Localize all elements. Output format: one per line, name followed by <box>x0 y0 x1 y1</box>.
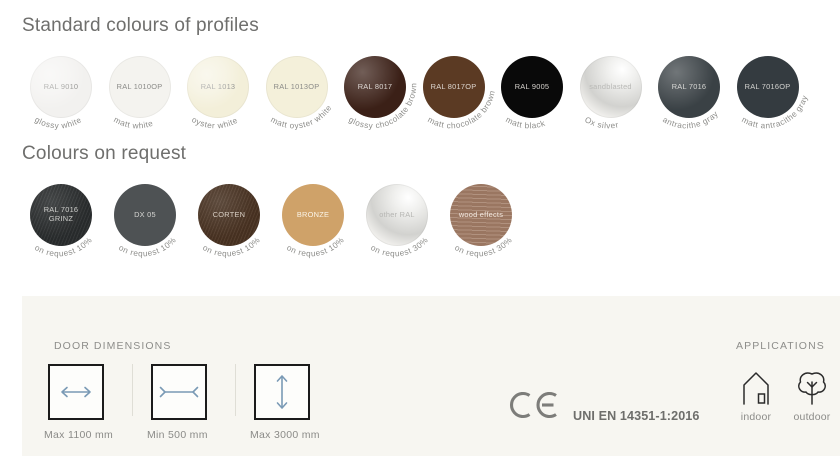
dimension-box-max-height <box>254 364 310 420</box>
colour-swatch: BRONZEon request 10% <box>282 184 344 246</box>
dimension-item-max-width: Max 1100 mm <box>44 364 118 441</box>
colour-swatch: RAL 8017OPmatt chocolate brown <box>423 56 485 118</box>
dimension-item-max-height: Max 3000 mm <box>250 364 324 441</box>
colour-swatch-code: RAL 1013 <box>198 83 239 92</box>
colour-swatch-code: RAL 9005 <box>512 83 553 92</box>
svg-text:matt white: matt white <box>112 115 154 130</box>
ce-mark-icon <box>508 390 564 420</box>
house-icon <box>728 362 784 406</box>
door-dimensions-group: Max 1100 mm Min 500 mm <box>44 364 324 441</box>
colour-swatch-code: RAL 7016 GRINZ <box>41 206 82 223</box>
colour-swatch: other RALon request 30% <box>366 184 428 246</box>
colour-swatch: RAL 9010glossy white <box>30 56 92 118</box>
colour-swatch: wood effectson request 30% <box>450 184 512 246</box>
colour-swatch: CORTENon request 10% <box>198 184 260 246</box>
colour-swatch: RAL 1013oyster white <box>187 56 249 118</box>
colour-swatch: DX 05on request 10% <box>114 184 176 246</box>
dimension-item-min-width: Min 500 mm <box>147 364 221 441</box>
colour-swatch-code: other RAL <box>376 211 418 220</box>
colour-swatch-disc: wood effects <box>450 184 512 246</box>
colour-swatch-disc: CORTEN <box>198 184 260 246</box>
colour-swatch-disc: BRONZE <box>282 184 344 246</box>
colour-swatch: RAL 7016OPmatt antracithe gray <box>737 56 799 118</box>
application-caption-indoor: indoor <box>728 411 784 423</box>
colour-swatch-code: BRONZE <box>294 211 332 220</box>
page-title-colours-on-request: Colours on request <box>22 143 186 165</box>
colour-swatch-disc: sandblasted <box>580 56 642 118</box>
specifications-panel: DOOR DIMENSIONS Max 1100 mm <box>22 296 840 456</box>
colour-swatch-code: RAL 7016OP <box>742 83 794 92</box>
dimension-box-max-width <box>48 364 104 420</box>
application-item-outdoor: outdoor <box>784 362 840 423</box>
arrow-horizontal-inward-icon <box>153 366 205 418</box>
colour-swatch: RAL 7016 GRINZon request 10% <box>30 184 92 246</box>
dimension-box-min-width <box>151 364 207 420</box>
certification-block: UNI EN 14351-1:2016 <box>508 390 700 423</box>
divider <box>132 364 133 416</box>
divider <box>235 364 236 416</box>
dimension-caption-max-width: Max 1100 mm <box>44 429 118 441</box>
colour-swatch-caption: matt white <box>112 115 154 130</box>
colour-swatch-code: CORTEN <box>210 211 249 220</box>
colour-swatch-code: RAL 8017OP <box>428 83 480 92</box>
colour-swatch: sandblastedOx silver <box>580 56 642 118</box>
applications-label: APPLICATIONS <box>736 340 825 352</box>
tree-icon <box>784 362 840 406</box>
colour-swatch-code: RAL 1013OP <box>271 83 323 92</box>
colour-swatch-code: RAL 7016 <box>669 83 710 92</box>
colour-swatch-code: DX 05 <box>131 211 159 220</box>
colour-swatch-code: wood effects <box>456 211 506 220</box>
arrow-horizontal-outward-icon <box>50 366 102 418</box>
colour-swatch-disc: RAL 1013 <box>187 56 249 118</box>
colour-swatch-code: RAL 1010OP <box>114 83 166 92</box>
colour-swatch-disc: RAL 1010OP <box>109 56 171 118</box>
colour-swatch: RAL 9005matt black <box>501 56 563 118</box>
colour-swatch-code: RAL 8017 <box>355 83 396 92</box>
colour-swatch-disc: RAL 1013OP <box>266 56 328 118</box>
arrow-vertical-icon <box>256 366 308 418</box>
colour-swatch: RAL 8017glossy chocolate brown <box>344 56 406 118</box>
colour-swatch-code: RAL 9010 <box>41 83 82 92</box>
colour-swatch-code: sandblasted <box>586 83 635 92</box>
colour-swatch-disc: RAL 9005 <box>501 56 563 118</box>
colour-swatch-disc: DX 05 <box>114 184 176 246</box>
application-caption-outdoor: outdoor <box>784 411 840 423</box>
colour-swatch: RAL 1010OPmatt white <box>109 56 171 118</box>
page-title-standard-colours: Standard colours of profiles <box>22 15 259 37</box>
certification-standard-text: UNI EN 14351-1:2016 <box>573 409 700 423</box>
colour-swatch: RAL 1013OPmatt oyster white <box>266 56 328 118</box>
colour-swatch-disc: RAL 9010 <box>30 56 92 118</box>
applications-group: indoor outdoor <box>728 362 840 423</box>
dimension-caption-min-width: Min 500 mm <box>147 429 221 441</box>
colour-swatch-disc: RAL 8017OP <box>423 56 485 118</box>
dimension-caption-max-height: Max 3000 mm <box>250 429 324 441</box>
colour-swatch-disc: RAL 7016 GRINZ <box>30 184 92 246</box>
application-item-indoor: indoor <box>728 362 784 423</box>
colour-specification-sheet: Standard colours of profiles RAL 9010glo… <box>0 0 840 456</box>
colour-swatch-disc: RAL 8017 <box>344 56 406 118</box>
colour-swatch-disc: RAL 7016 <box>658 56 720 118</box>
colour-swatch-disc: RAL 7016OP <box>737 56 799 118</box>
colour-swatch: RAL 7016antracithe gray <box>658 56 720 118</box>
door-dimensions-label: DOOR DIMENSIONS <box>54 340 171 352</box>
colour-swatch-disc: other RAL <box>366 184 428 246</box>
